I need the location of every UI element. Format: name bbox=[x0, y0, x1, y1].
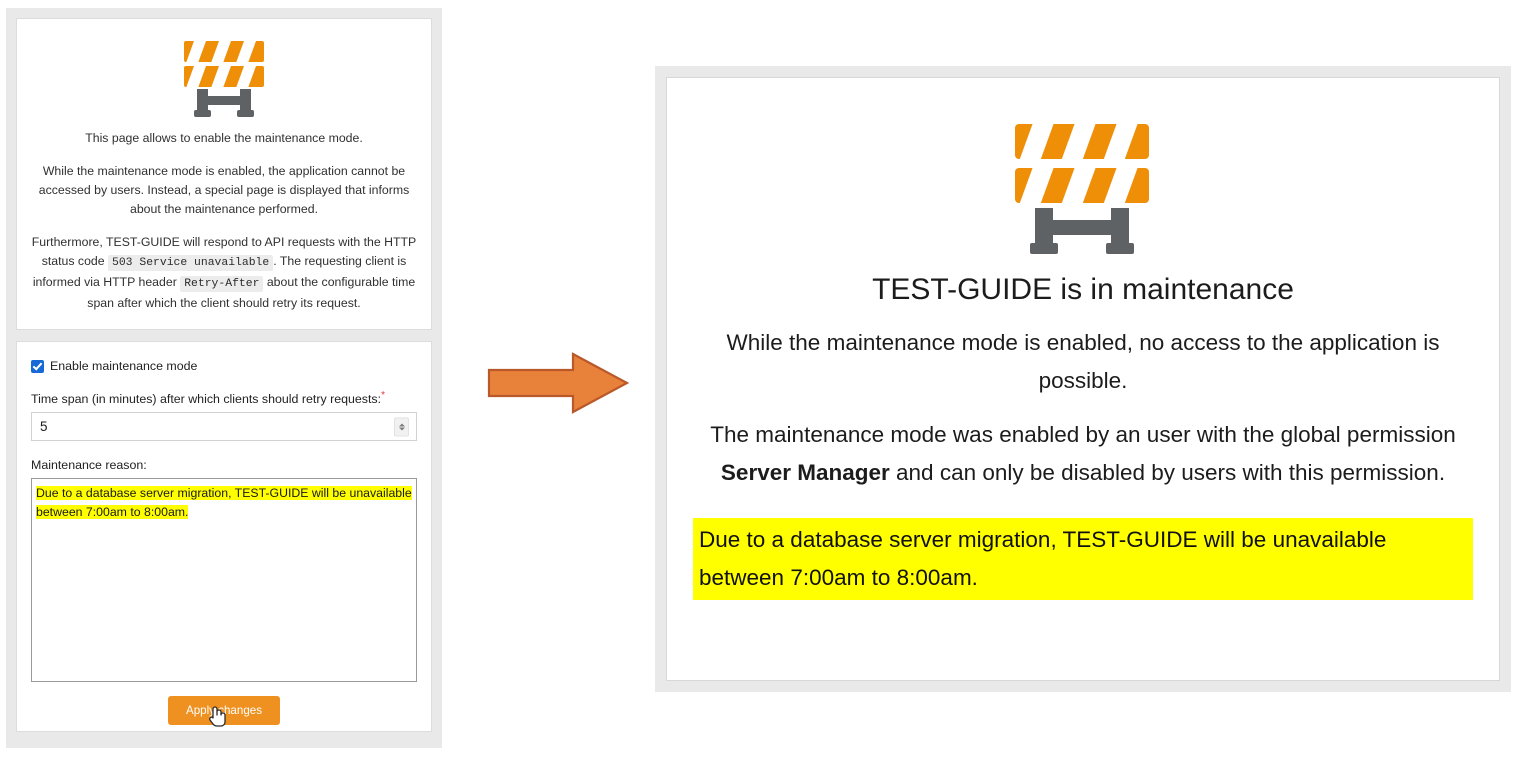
road-barrier-icon bbox=[1007, 124, 1159, 254]
chevron-down-icon[interactable] bbox=[399, 427, 405, 430]
maintenance-reason-value: Due to a database server migration, TEST… bbox=[36, 486, 412, 519]
maintenance-paragraph-2: The maintenance mode was enabled by an u… bbox=[693, 416, 1473, 492]
retry-after-header-chip: Retry-After bbox=[180, 276, 263, 292]
maintenance-page-card: TEST-GUIDE is in maintenance While the m… bbox=[666, 77, 1500, 681]
road-barrier-icon bbox=[176, 39, 272, 117]
info-paragraph-3: Furthermore, TEST-GUIDE will respond to … bbox=[31, 233, 417, 313]
enable-maintenance-mode-row[interactable]: Enable maintenance mode bbox=[31, 359, 417, 373]
maintenance-settings-panel: This page allows to enable the maintenan… bbox=[6, 8, 442, 748]
maintenance-form-card: Enable maintenance mode Time span (in mi… bbox=[16, 341, 432, 732]
maintenance-p2-text-1: The maintenance mode was enabled by an u… bbox=[710, 422, 1455, 447]
timespan-stepper[interactable] bbox=[394, 417, 409, 436]
maintenance-page-preview-panel: TEST-GUIDE is in maintenance While the m… bbox=[655, 66, 1511, 692]
timespan-label: Time span (in minutes) after which clien… bbox=[31, 390, 417, 406]
maintenance-reason-value-wrap: Due to a database server migration, TEST… bbox=[36, 484, 412, 522]
enable-maintenance-mode-label: Enable maintenance mode bbox=[50, 359, 197, 373]
http-status-code-chip: 503 Service unavailable bbox=[108, 255, 273, 271]
info-card: This page allows to enable the maintenan… bbox=[16, 18, 432, 330]
required-marker: * bbox=[381, 390, 385, 401]
maintenance-page-heading: TEST-GUIDE is in maintenance bbox=[693, 272, 1473, 308]
info-paragraph-2: While the maintenance mode is enabled, t… bbox=[31, 162, 417, 219]
maintenance-reason-textarea[interactable]: Due to a database server migration, TEST… bbox=[31, 478, 417, 682]
maintenance-paragraph-1: While the maintenance mode is enabled, n… bbox=[693, 324, 1473, 400]
maintenance-reason-highlight: Due to a database server migration, TEST… bbox=[693, 518, 1473, 600]
timespan-label-text: Time span (in minutes) after which clien… bbox=[31, 392, 381, 406]
enable-maintenance-mode-checkbox[interactable] bbox=[31, 360, 44, 373]
maintenance-reason-label: Maintenance reason: bbox=[31, 458, 417, 472]
info-paragraph-1: This page allows to enable the maintenan… bbox=[31, 129, 417, 148]
apply-changes-button[interactable]: Apply changes bbox=[168, 696, 280, 725]
maintenance-p2-text-2: and can only be disabled by users with t… bbox=[896, 460, 1445, 485]
right-arrow-icon bbox=[487, 352, 629, 414]
apply-button-row: Apply changes bbox=[31, 696, 417, 725]
server-manager-permission: Server Manager bbox=[721, 460, 890, 485]
timespan-value: 5 bbox=[40, 419, 48, 434]
chevron-up-icon[interactable] bbox=[399, 423, 405, 426]
timespan-input[interactable]: 5 bbox=[31, 412, 417, 441]
